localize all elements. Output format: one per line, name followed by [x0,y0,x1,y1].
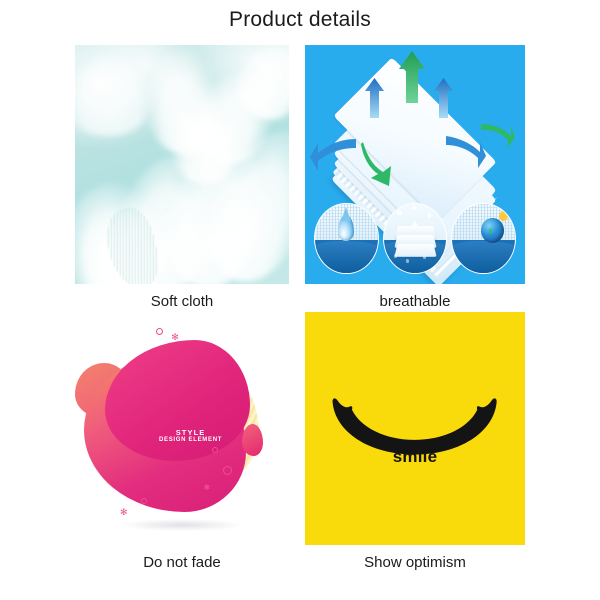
product-detail-card-show-optimism[interactable]: smile Show optimism [305,312,525,571]
product-detail-card-soft-cloth[interactable]: Soft cloth [75,45,289,310]
arrow-out-blue-icon [310,137,356,171]
arrow-up-green-icon [399,51,425,103]
smile-illustration: smile [305,312,525,545]
water-droplet-badge [314,203,379,275]
do-not-fade-caption: Do not fade [75,554,289,571]
mini-sheet [394,244,436,257]
bubble-icon [397,211,401,216]
blob-label-line2: DESIGN ELEMENT [141,437,239,444]
sparkle-icon: ✱ [203,484,210,492]
product-detail-card-breathable[interactable]: breathable [305,45,525,310]
abstract-blob-illustration: STYLE DESIGN ELEMENT ✻ ✻ ✱ [75,312,289,545]
layered-fabric-badge [383,203,448,275]
arrow-down-green-icon [361,142,397,186]
bubble-icon [412,206,415,209]
water-fill [315,241,378,273]
water-fill [452,241,515,273]
page-title: Product details [0,8,600,32]
breathable-illustration [305,45,525,284]
do-not-fade-image[interactable]: STYLE DESIGN ELEMENT ✻ ✻ ✱ [75,312,289,545]
fabric-layer-stack [318,59,512,193]
show-optimism-caption: Show optimism [305,554,525,571]
show-optimism-image[interactable]: smile [305,312,525,545]
globe-marker-icon [489,229,492,233]
globe-badge [451,203,516,275]
breathable-caption: breathable [305,293,525,310]
arrow-up-blue-icon [365,78,384,118]
ring-dot-icon [223,466,232,475]
soft-cloth-caption: Soft cloth [75,293,289,310]
blob-shadow [122,519,242,531]
breathable-image[interactable] [305,45,525,284]
product-detail-card-do-not-fade[interactable]: STYLE DESIGN ELEMENT ✻ ✻ ✱ Do not fade [75,312,289,571]
feather-plume [75,50,156,140]
arrow-out-green-icon [481,118,515,148]
arrow-up-blue-icon [434,78,453,118]
ring-dot-icon [156,328,163,335]
feather-photo [75,45,289,284]
small-accent-blob [242,424,263,457]
feature-badge-row [314,193,516,274]
bubble-icon [428,213,432,217]
blob-label: STYLE DESIGN ELEMENT [141,429,239,445]
soft-cloth-image[interactable] [75,45,289,284]
globe-icon [481,218,504,243]
product-details-page: Product details Soft cloth [0,0,600,600]
smile-word: smile [305,447,525,467]
mini-layer-stack [396,225,435,253]
sparkle-icon: ✻ [120,508,128,517]
sparkle-icon: ✻ [171,333,179,342]
